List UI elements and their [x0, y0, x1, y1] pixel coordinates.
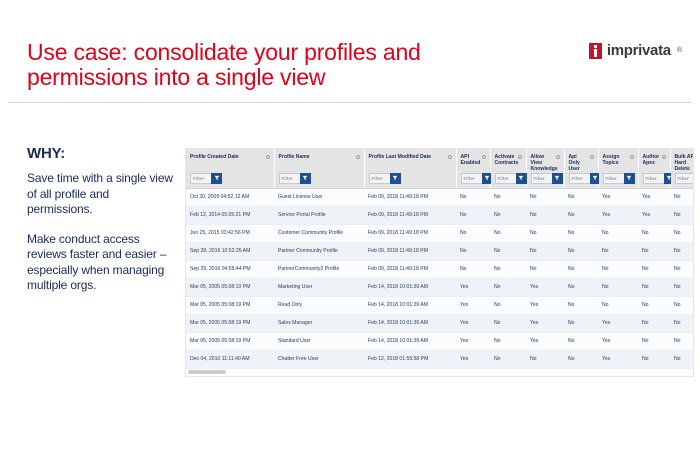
table-row[interactable]: Sep 28, 2016 10:52:35 AMPartner Communit… — [186, 242, 694, 260]
table-cell: Partner Community Profile — [274, 242, 364, 260]
table-cell: No — [456, 260, 490, 278]
table-cell: Yes — [598, 350, 638, 368]
column-header-author-apex[interactable]: Author ApexFilter — [638, 149, 670, 188]
table-cell: Yes — [526, 278, 564, 296]
filter-input[interactable]: Filter — [495, 173, 516, 184]
column-header-assign-topics[interactable]: Assign TopicsFilter — [598, 149, 638, 188]
table-cell: No — [638, 314, 670, 332]
filter-input[interactable]: Filter — [279, 173, 300, 184]
column-filter[interactable]: Filter — [190, 173, 222, 184]
table-cell: No — [526, 350, 564, 368]
header-divider — [8, 102, 692, 103]
table-header-row: Profile Created DateFilterProfile NameFi… — [186, 149, 694, 188]
table-cell: Yes — [598, 332, 638, 350]
table-cell: No — [638, 332, 670, 350]
column-header-profile-name[interactable]: Profile NameFilter — [274, 149, 364, 188]
filter-input[interactable]: Filter — [675, 173, 695, 184]
table-cell: Yes — [526, 332, 564, 350]
column-filter[interactable]: Filter — [531, 173, 563, 184]
column-header-label: Bulk API Hard Delete — [675, 154, 695, 173]
table-cell: No — [670, 188, 694, 206]
table-cell: Mar 05, 2005 05:08:19 PM — [186, 314, 274, 332]
table-cell: No — [670, 278, 694, 296]
table-cell: No — [564, 296, 598, 314]
column-filter[interactable]: Filter — [675, 173, 695, 184]
table-header: Profile Created DateFilterProfile NameFi… — [186, 149, 694, 188]
table-cell: Yes — [598, 188, 638, 206]
table-cell: Yes — [456, 332, 490, 350]
sort-icon[interactable] — [482, 155, 486, 159]
table-cell: No — [490, 206, 526, 224]
table-cell: No — [564, 206, 598, 224]
table-cell: No — [564, 260, 598, 278]
table-cell: Feb 09, 2018 11:49:18 PM — [364, 242, 456, 260]
table-cell: Jun 25, 2015 03:42:56 PM — [186, 224, 274, 242]
filter-funnel-icon[interactable] — [300, 173, 311, 184]
table-cell: No — [638, 224, 670, 242]
table-cell: Read Only — [274, 296, 364, 314]
table-cell: No — [490, 278, 526, 296]
table-cell: Yes — [456, 350, 490, 368]
table-cell: No — [526, 242, 564, 260]
column-header-profile-last-modified-date[interactable]: Profile Last Modified DateFilter — [364, 149, 456, 188]
filter-input[interactable]: Filter — [461, 173, 482, 184]
table-cell: Feb 14, 2018 10:01:39 AM — [364, 296, 456, 314]
table-cell: Dec 04, 2010 11:11:40 AM — [186, 350, 274, 368]
table-cell: Feb 14, 2018 10:01:39 AM — [364, 332, 456, 350]
table-cell: No — [638, 350, 670, 368]
table-cell: Yes — [526, 314, 564, 332]
filter-input[interactable]: Filter — [569, 173, 590, 184]
column-header-label: Assign Topics — [603, 154, 634, 166]
column-header-label: Profile Last Modified Date — [369, 154, 452, 160]
filter-input[interactable]: Filter — [190, 173, 211, 184]
filter-funnel-icon[interactable] — [516, 173, 527, 184]
table-cell: Feb 09, 2018 11:49:18 PM — [364, 260, 456, 278]
table-row[interactable]: Mar 05, 2005 05:08:19 PMMarketing UserFe… — [186, 278, 694, 296]
column-header-label: Profile Name — [279, 154, 360, 160]
table-cell: Mar 05, 2005 05:08:19 PM — [186, 332, 274, 350]
table-cell: Yes — [598, 206, 638, 224]
sort-icon[interactable] — [662, 155, 666, 159]
column-header-activate-contracts[interactable]: Activate ContractsFilter — [490, 149, 526, 188]
table-cell: No — [526, 206, 564, 224]
table-cell: No — [564, 350, 598, 368]
sort-icon[interactable] — [266, 155, 270, 159]
sort-icon[interactable] — [630, 155, 634, 159]
table-cell: No — [456, 206, 490, 224]
column-filter[interactable]: Filter — [279, 173, 311, 184]
table-cell: No — [456, 224, 490, 242]
table-row[interactable]: Oct 30, 2009 04:52:12 AMGuest License Us… — [186, 188, 694, 206]
table-cell: No — [670, 314, 694, 332]
column-filter[interactable]: Filter — [369, 173, 401, 184]
table-cell: No — [670, 206, 694, 224]
column-header-api-only-user[interactable]: Api Only UserFilter — [564, 149, 598, 188]
table-cell: No — [598, 260, 638, 278]
horizontal-scrollbar[interactable] — [188, 370, 226, 374]
table-cell: No — [670, 242, 694, 260]
column-header-allow-view-knowledge[interactable]: Allow View KnowledgeFilter — [526, 149, 564, 188]
table-cell: No — [638, 296, 670, 314]
table-cell: No — [670, 332, 694, 350]
table-cell: No — [564, 242, 598, 260]
filter-funnel-icon[interactable] — [552, 173, 563, 184]
table-cell: No — [564, 332, 598, 350]
filter-funnel-icon[interactable] — [624, 173, 635, 184]
sort-icon[interactable] — [556, 155, 560, 159]
table-cell: No — [526, 224, 564, 242]
table-cell: No — [490, 350, 526, 368]
table-cell: No — [490, 260, 526, 278]
table-cell: No — [490, 314, 526, 332]
table-cell: No — [490, 332, 526, 350]
table-cell: No — [526, 260, 564, 278]
table-cell: No — [564, 224, 598, 242]
slide-header: Use case: consolidate your profiles and … — [0, 0, 700, 103]
column-filter[interactable]: Filter — [569, 173, 601, 184]
table-cell: Feb 09, 2018 11:49:18 PM — [364, 206, 456, 224]
table-cell: Chatter Free User — [274, 350, 364, 368]
table-cell: Feb 14, 2018 10:01:39 AM — [364, 278, 456, 296]
column-header-profile-created-date[interactable]: Profile Created DateFilter — [186, 149, 274, 188]
table-row[interactable]: Mar 05, 2005 05:08:19 PMRead OnlyFeb 14,… — [186, 296, 694, 314]
table-cell: No — [490, 224, 526, 242]
table-cell: No — [670, 260, 694, 278]
table-cell: Yes — [456, 296, 490, 314]
table-cell: No — [526, 188, 564, 206]
sort-icon[interactable] — [518, 155, 522, 159]
table-body: Oct 30, 2009 04:52:12 AMGuest License Us… — [186, 188, 694, 368]
table-row[interactable]: Sep 29, 2016 04:55:44 PMPartnerCommunity… — [186, 260, 694, 278]
table-cell: No — [490, 242, 526, 260]
table-cell: Mar 05, 2005 05:08:19 PM — [186, 278, 274, 296]
sort-icon[interactable] — [448, 155, 452, 159]
table-cell: Service Portal Profile — [274, 206, 364, 224]
table-cell: No — [456, 242, 490, 260]
column-header-label: Profile Created Date — [190, 154, 270, 160]
table-cell: Yes — [638, 188, 670, 206]
column-header-api-enabled[interactable]: API EnabledFilter — [456, 149, 490, 188]
table-cell: Feb 09, 2018 11:49:18 PM — [364, 224, 456, 242]
column-filter[interactable]: Filter — [495, 173, 527, 184]
table-cell: Sep 29, 2016 04:55:44 PM — [186, 260, 274, 278]
table-row[interactable]: Feb 12, 2014 05:05:21 PMService Portal P… — [186, 206, 694, 224]
table-cell: Feb 14, 2018 10:01:39 AM — [364, 314, 456, 332]
table-cell: No — [598, 242, 638, 260]
column-filter[interactable]: Filter — [603, 173, 635, 184]
table-cell: Yes — [638, 206, 670, 224]
imprivata-logo: imprivata ® — [589, 42, 682, 59]
table-cell: Customer Community Profile — [274, 224, 364, 242]
table-cell: Mar 05, 2005 05:08:19 PM — [186, 296, 274, 314]
table-cell: No — [564, 278, 598, 296]
profiles-table-panel: Profile Created DateFilterProfile NameFi… — [185, 148, 694, 377]
table-cell: No — [598, 296, 638, 314]
table-row[interactable]: Jun 25, 2015 03:42:56 PMCustomer Communi… — [186, 224, 694, 242]
table-cell: No — [638, 242, 670, 260]
filter-funnel-icon[interactable] — [390, 173, 401, 184]
column-header-bulk-api-hard-delete[interactable]: Bulk API Hard DeleteFilter — [670, 149, 694, 188]
table-row[interactable]: Mar 05, 2005 05:08:19 PMSales ManagerFeb… — [186, 314, 694, 332]
table-cell: PartnerCommunity2 Profile — [274, 260, 364, 278]
filter-input[interactable]: Filter — [603, 173, 624, 184]
table-row[interactable]: Mar 05, 2005 05:08:19 PMStandard UserFeb… — [186, 332, 694, 350]
table-cell: Yes — [598, 314, 638, 332]
table-cell: Feb 09, 2018 11:49:18 PM — [364, 188, 456, 206]
table-cell: No — [638, 278, 670, 296]
table-cell: Feb 12, 2018 01:55:58 PM — [364, 350, 456, 368]
table-cell: No — [564, 188, 598, 206]
column-filter[interactable]: Filter — [461, 173, 493, 184]
table-cell: Sales Manager — [274, 314, 364, 332]
table-cell: Sep 28, 2016 10:52:35 AM — [186, 242, 274, 260]
table-footer — [186, 369, 693, 376]
why-paragraph-2: Make conduct access reviews faster and e… — [27, 232, 177, 294]
filter-input[interactable]: Filter — [369, 173, 390, 184]
table-row[interactable]: Dec 04, 2010 11:11:40 AMChatter Free Use… — [186, 350, 694, 368]
filter-input[interactable]: Filter — [643, 173, 664, 184]
table-cell: No — [564, 314, 598, 332]
table-cell: No — [638, 260, 670, 278]
sort-icon[interactable] — [356, 155, 360, 159]
page-title: Use case: consolidate your profiles and … — [27, 40, 537, 90]
table-cell: Marketing User — [274, 278, 364, 296]
table-cell: Oct 30, 2009 04:52:12 AM — [186, 188, 274, 206]
table-cell: No — [670, 296, 694, 314]
why-panel: WHY: Save time with a single view of all… — [27, 145, 177, 294]
table-cell: No — [670, 224, 694, 242]
table-cell: No — [598, 278, 638, 296]
why-heading: WHY: — [27, 145, 177, 162]
table-cell: Feb 12, 2014 05:05:21 PM — [186, 206, 274, 224]
imprivata-mark-icon — [589, 43, 602, 59]
filter-funnel-icon[interactable] — [211, 173, 222, 184]
filter-input[interactable]: Filter — [531, 173, 552, 184]
table-cell: Yes — [456, 314, 490, 332]
table-cell: Standard User — [274, 332, 364, 350]
table-cell: No — [456, 188, 490, 206]
why-paragraph-1: Save time with a single view of all prof… — [27, 171, 177, 218]
table-cell: No — [490, 296, 526, 314]
table-cell: No — [670, 350, 694, 368]
table-cell: Guest License User — [274, 188, 364, 206]
table-cell: No — [490, 188, 526, 206]
sort-icon[interactable] — [590, 155, 594, 159]
profiles-table: Profile Created DateFilterProfile NameFi… — [186, 149, 694, 369]
table-cell: Yes — [526, 296, 564, 314]
table-cell: Yes — [456, 278, 490, 296]
trademark-symbol: ® — [677, 47, 682, 54]
brand-name: imprivata — [607, 42, 671, 59]
table-cell: No — [598, 224, 638, 242]
